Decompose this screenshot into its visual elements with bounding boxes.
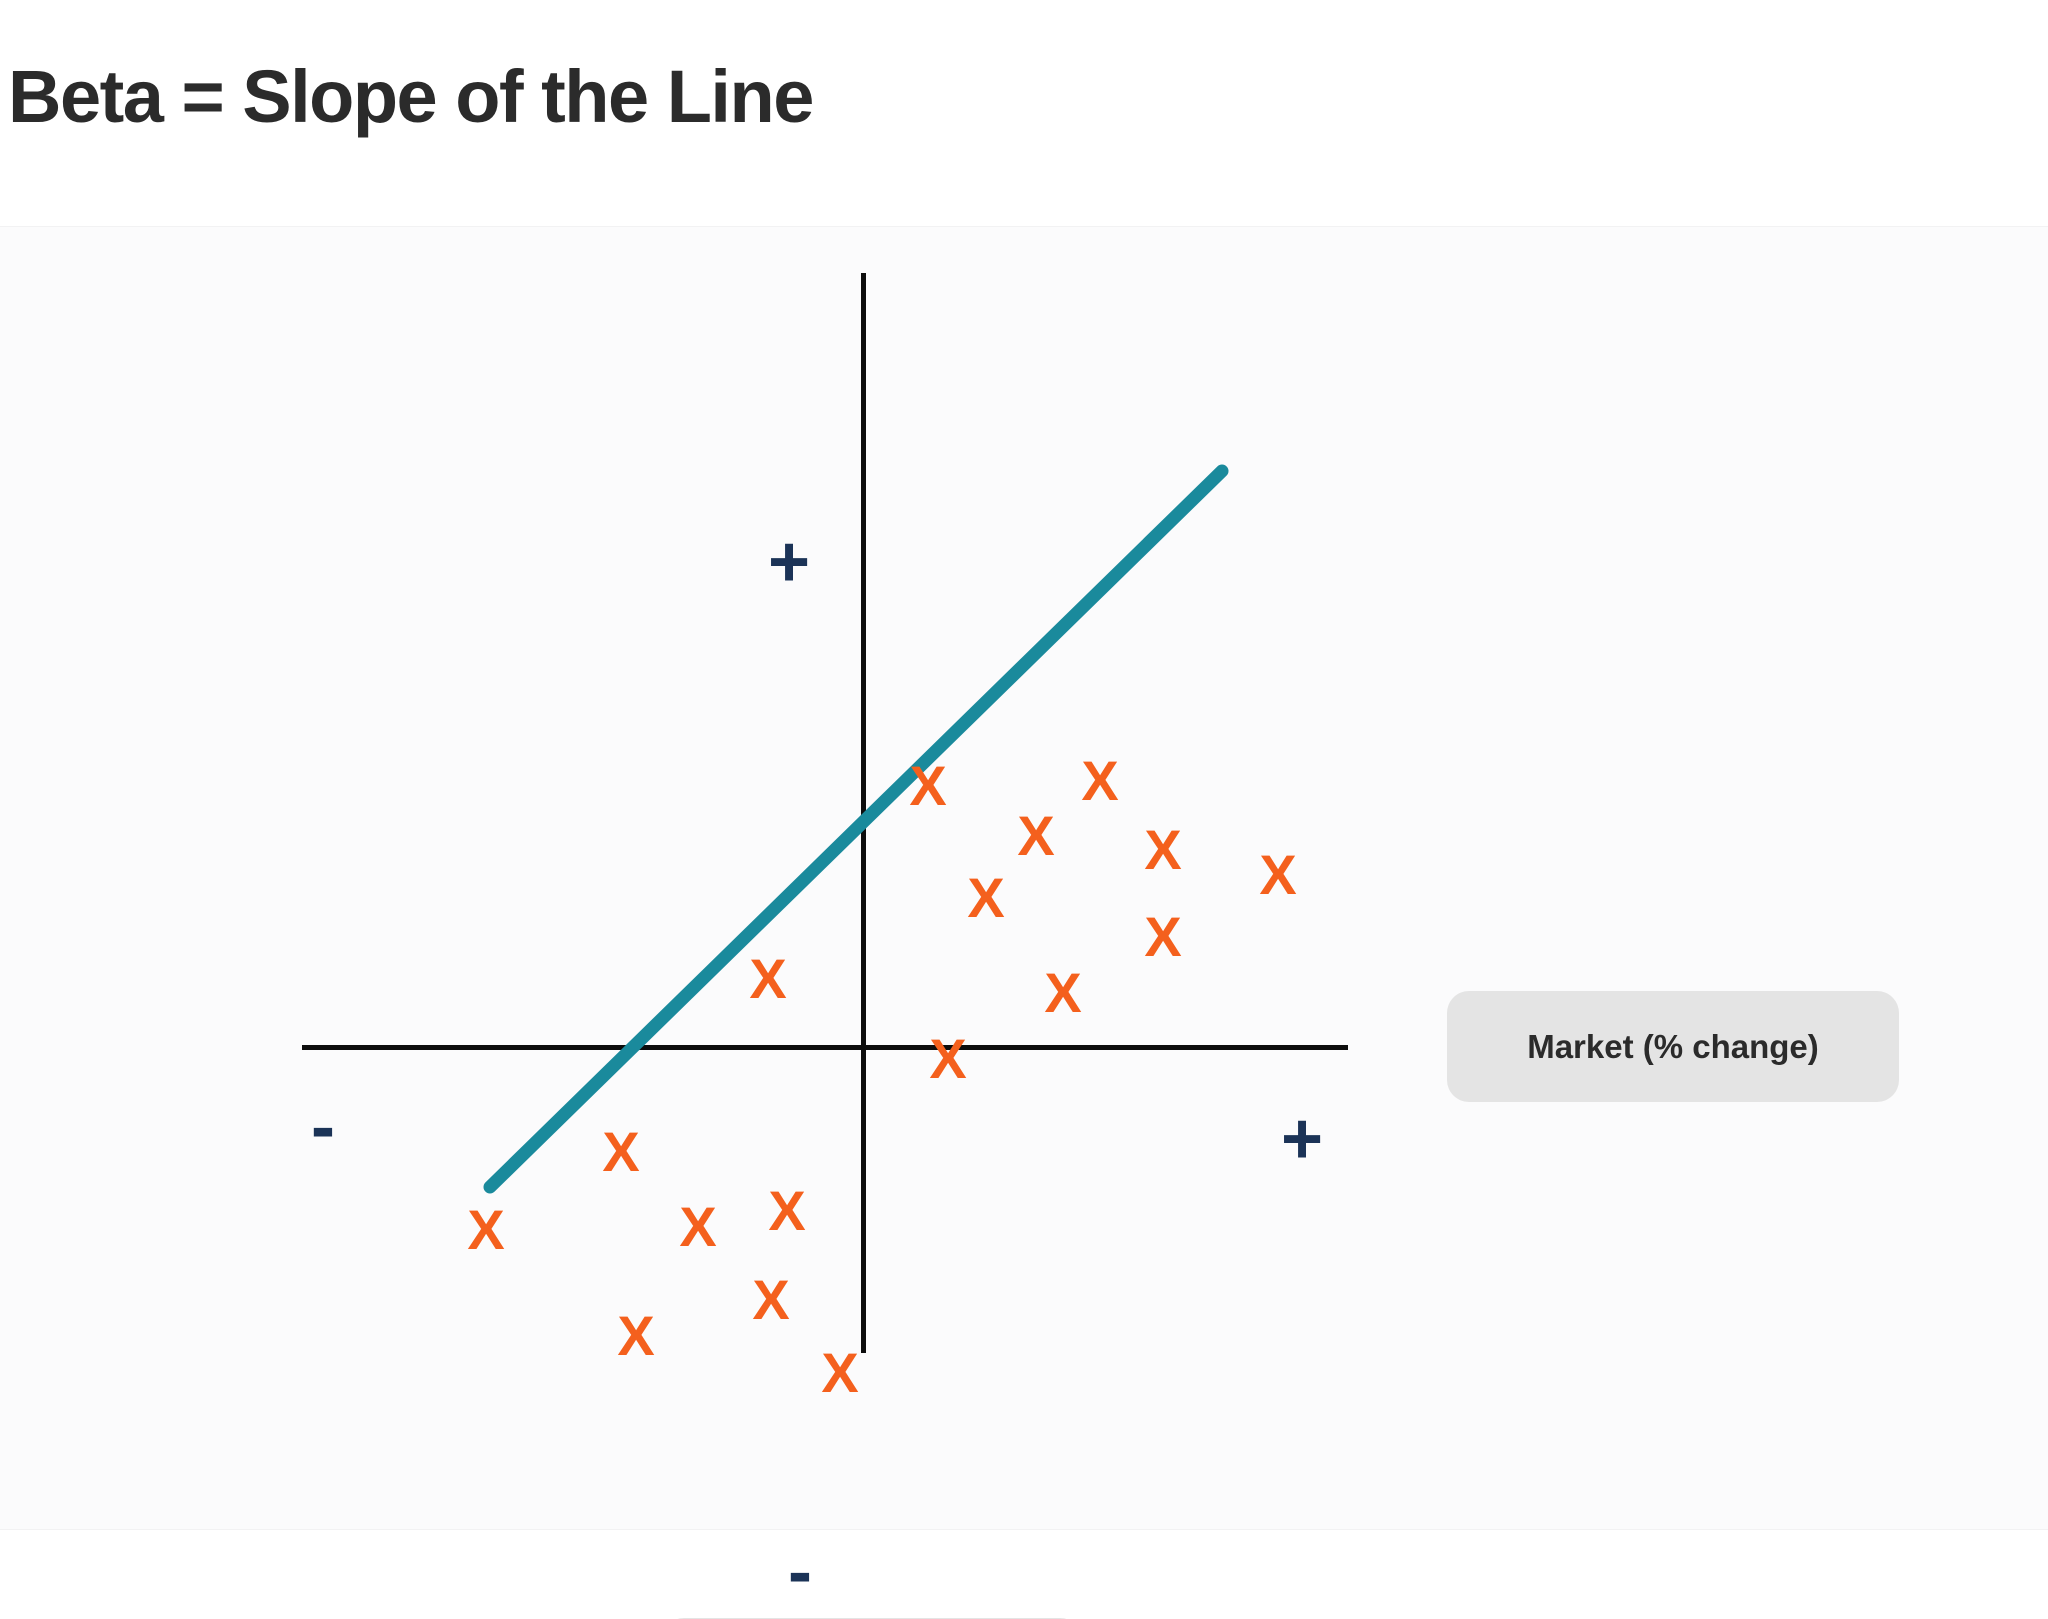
sign-top-icon: + [768, 526, 810, 598]
x-axis-line [302, 1045, 1348, 1050]
data-point-marker: X [1081, 753, 1118, 809]
data-point-marker: X [679, 1199, 716, 1255]
sign-bottom-icon: - [788, 1536, 812, 1608]
data-point-marker: X [1144, 822, 1181, 878]
y-axis-line [861, 273, 866, 1353]
x-axis-label-text: Market (% change) [1527, 1028, 1819, 1066]
data-point-marker: X [1259, 847, 1296, 903]
data-point-marker: X [768, 1183, 805, 1239]
data-point-marker: X [467, 1202, 504, 1258]
x-axis-label-pill: Market (% change) [1447, 991, 1899, 1102]
data-point-marker: X [929, 1031, 966, 1087]
trendline [0, 227, 2048, 1531]
data-point-marker: X [752, 1272, 789, 1328]
figure-card: XXXXXXXXXXXXXXXXX ++-- Market (% change)… [0, 226, 2048, 1530]
data-point-marker: X [1144, 909, 1181, 965]
sign-right-icon: + [1281, 1103, 1323, 1175]
data-point-marker: X [909, 758, 946, 814]
data-point-marker: X [617, 1308, 654, 1364]
data-point-marker: X [602, 1124, 639, 1180]
data-point-marker: X [1017, 808, 1054, 864]
data-point-marker: X [967, 870, 1004, 926]
slide-root: Beta = Slope of the Line XXXXXXXXXXXXXXX… [0, 0, 2048, 1619]
data-point-marker: X [1044, 965, 1081, 1021]
data-point-marker: X [749, 951, 786, 1007]
page-title: Beta = Slope of the Line [8, 56, 813, 137]
sign-left-icon: - [311, 1091, 335, 1163]
scatter-plot-canvas: XXXXXXXXXXXXXXXXX ++-- [0, 227, 2048, 1531]
data-point-marker: X [821, 1345, 858, 1401]
